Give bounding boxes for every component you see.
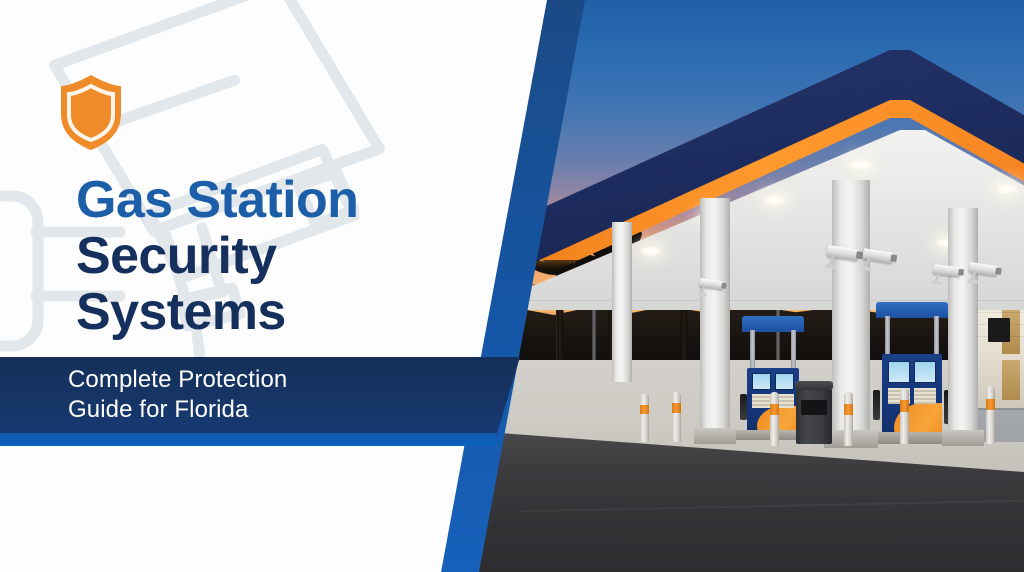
bollard (672, 392, 681, 442)
pump-display (888, 361, 910, 383)
shield-icon (58, 72, 124, 152)
page-title: Gas Station Security Systems (76, 172, 506, 340)
canopy-column (948, 208, 978, 442)
headline-line-2: Security (76, 228, 506, 284)
canopy-light (764, 195, 786, 205)
fuel-nozzle (740, 394, 747, 420)
canopy-light (850, 160, 872, 170)
pump-display (752, 373, 771, 390)
pump-post (750, 330, 755, 370)
canopy-light (640, 246, 662, 256)
subtitle-line-2: Guide for Florida (68, 395, 468, 425)
bollard (640, 394, 649, 442)
fuel-pump (876, 302, 948, 438)
headline-line-1: Gas Station (76, 172, 506, 228)
camera-lens-icon (995, 268, 1002, 275)
canopy-column (700, 198, 730, 442)
pump-body (882, 354, 942, 438)
bollard (844, 392, 853, 446)
bollard (770, 392, 779, 446)
pump-post (934, 316, 939, 356)
bin-opening (801, 400, 827, 415)
store-shelving (1002, 360, 1020, 400)
canopy-light (996, 184, 1018, 194)
canopy-column (612, 222, 632, 382)
fuel-nozzle (873, 390, 880, 420)
pump-keypad (914, 388, 936, 405)
bollard (900, 388, 909, 444)
bin-lid (795, 381, 834, 390)
pump-post (791, 330, 796, 370)
pump-keypad (752, 394, 771, 407)
store-menu-board (988, 318, 1010, 342)
hero-banner: Gas Station Security Systems Complete Pr… (0, 0, 1024, 572)
camera-lens-icon (958, 269, 964, 276)
column-base (942, 430, 984, 446)
pump-post (885, 316, 890, 356)
trash-bin (796, 388, 832, 444)
camera-lens-icon (721, 283, 727, 289)
pump-display (914, 361, 936, 383)
subtitle-accent-bar (0, 433, 500, 446)
bollard (986, 386, 995, 444)
column-base (694, 428, 736, 444)
headline-line-3: Systems (76, 284, 506, 340)
page-subtitle: Complete Protection Guide for Florida (68, 365, 468, 425)
camera-lens-icon (890, 254, 897, 262)
subtitle-line-1: Complete Protection (68, 365, 468, 395)
pump-display (775, 373, 794, 390)
